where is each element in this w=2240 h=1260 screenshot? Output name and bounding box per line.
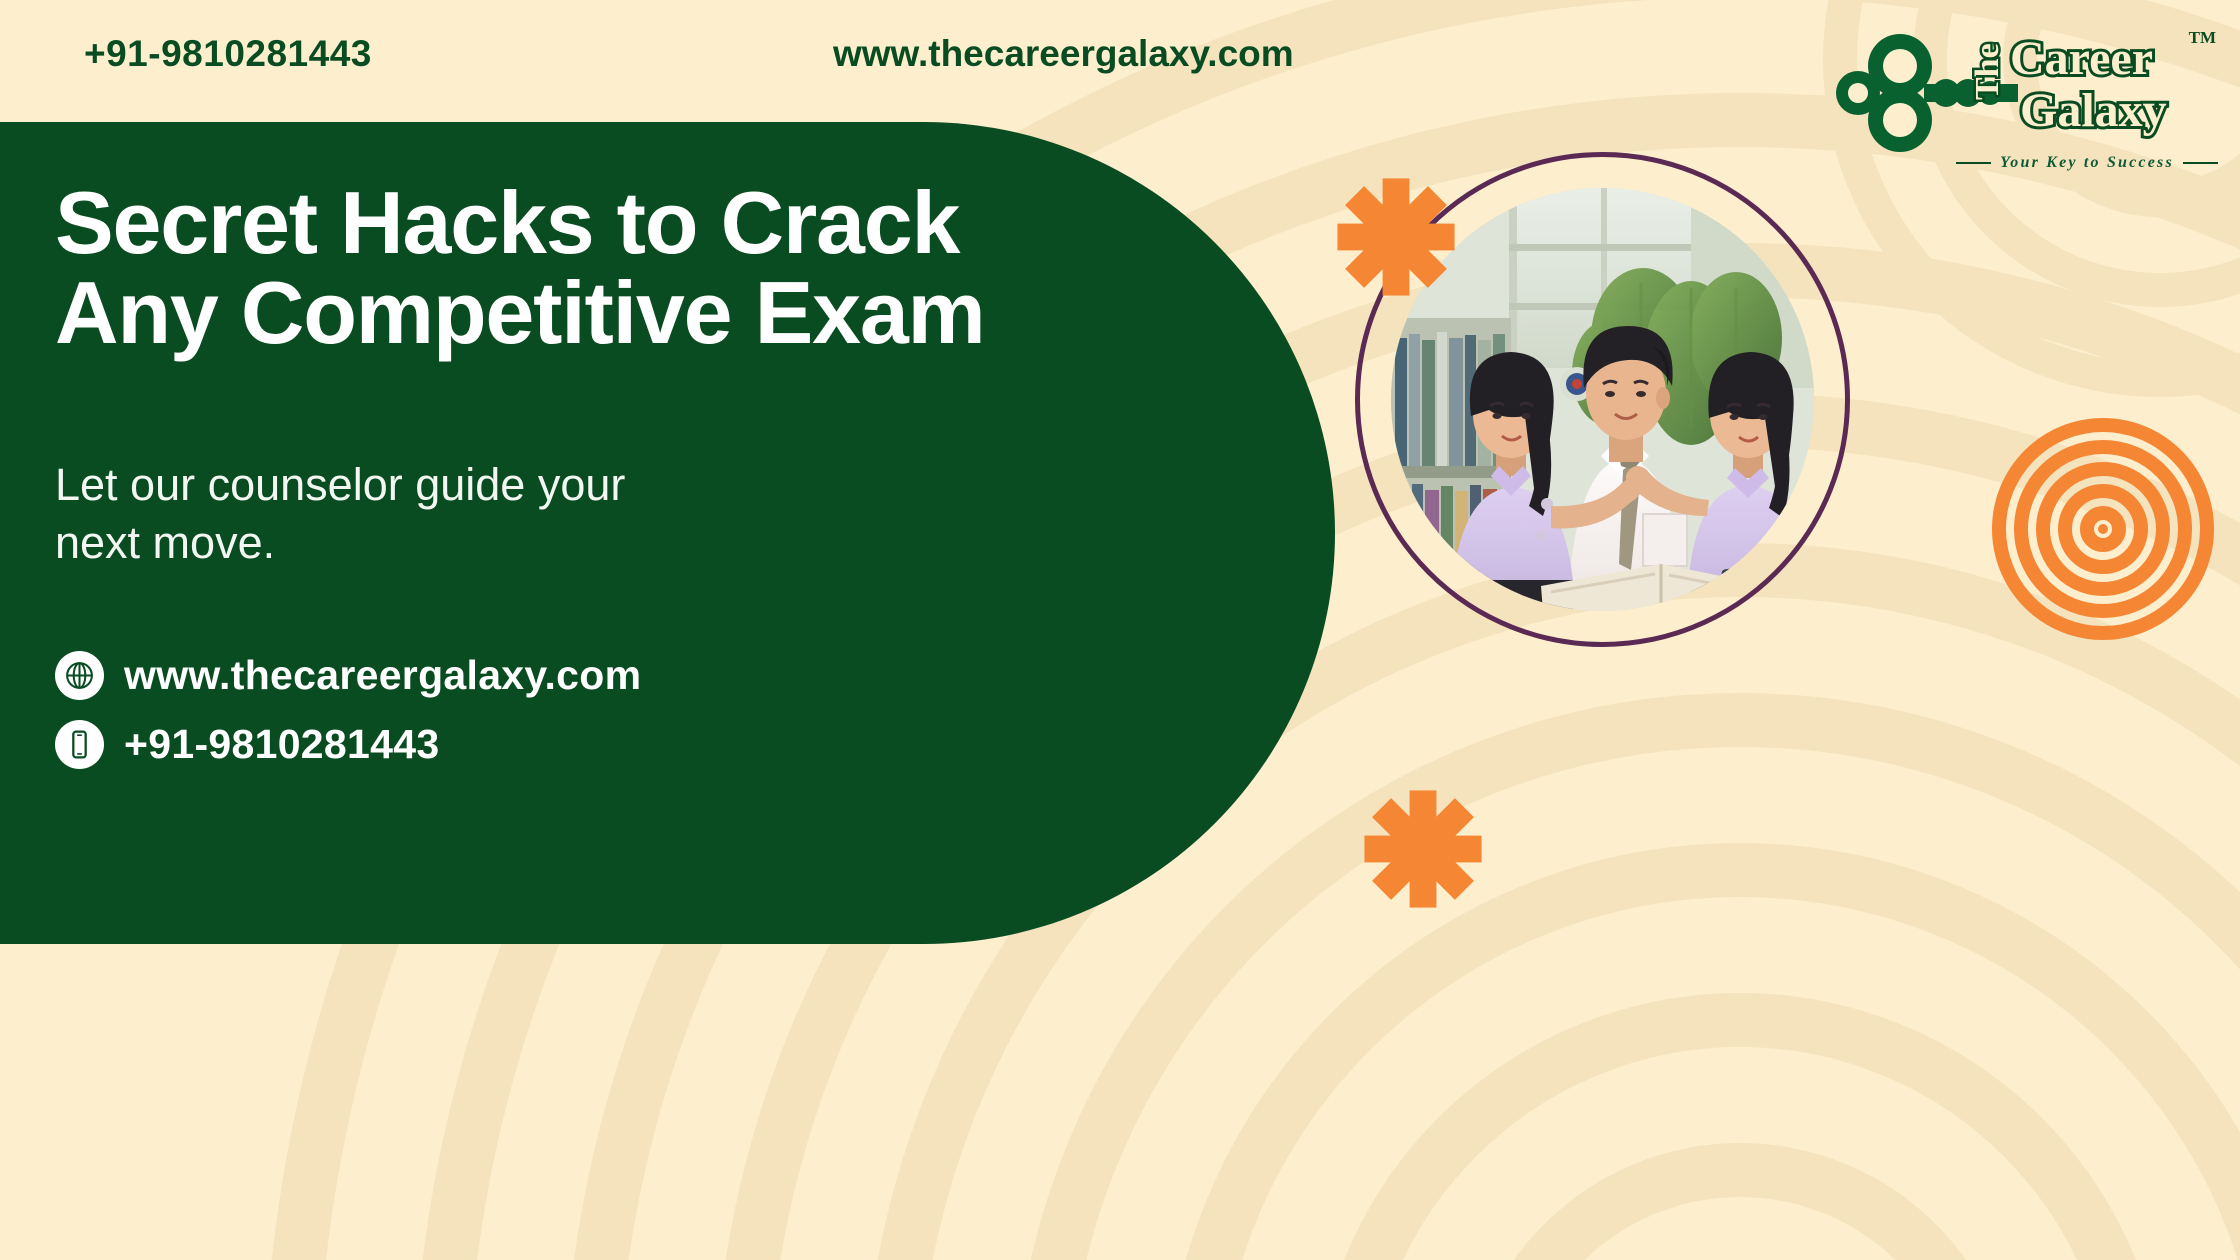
- headline-line-2: Any Competitive Exam: [55, 268, 1285, 358]
- tagline-rule-right: [2183, 162, 2218, 164]
- contact-website-label: www.thecareergalaxy.com: [124, 652, 641, 699]
- poster-canvas: +91-9810281443 www.thecareergalaxy.com T…: [0, 0, 2240, 1260]
- contact-list: www.thecareergalaxy.com +91-9810281443: [55, 651, 1295, 769]
- subcopy-line-2: next move.: [55, 514, 875, 573]
- contact-phone-label: +91-9810281443: [124, 721, 439, 768]
- logo-word-galaxy: Galaxy: [2020, 84, 2167, 137]
- contact-row-phone[interactable]: +91-9810281443: [55, 720, 1295, 769]
- orange-asterisk-top: [1335, 176, 1457, 298]
- page-title: Secret Hacks to Crack Any Competitive Ex…: [55, 178, 1285, 358]
- logo-wordmark: The Career Galaxy: [1968, 22, 2218, 142]
- mobile-phone-icon: [55, 720, 104, 769]
- tagline-text: Your Key to Success: [2000, 154, 2174, 172]
- brand-logo[interactable]: The Career Galaxy TM Your Key to Success: [1828, 10, 2218, 182]
- orange-asterisk-bottom: [1362, 788, 1484, 910]
- hero-subcopy: Let our counselor guide your next move.: [55, 456, 875, 574]
- logo-word-career: Career: [2010, 32, 2153, 85]
- logo-tagline: Your Key to Success: [1956, 154, 2218, 172]
- subcopy-line-1: Let our counselor guide your: [55, 456, 875, 515]
- topbar-phone[interactable]: +91-9810281443: [84, 33, 372, 75]
- contact-row-website[interactable]: www.thecareergalaxy.com: [55, 651, 1295, 700]
- orange-concentric-rings: [1992, 418, 2214, 640]
- tagline-rule-left: [1956, 162, 1991, 164]
- globe-icon: [55, 651, 104, 700]
- trademark-symbol: TM: [2189, 28, 2216, 48]
- hero-content: Secret Hacks to Crack Any Competitive Ex…: [55, 178, 1295, 789]
- topbar-website[interactable]: www.thecareergalaxy.com: [833, 33, 1294, 75]
- headline-line-1: Secret Hacks to Crack: [55, 173, 959, 272]
- logo-word-the: The: [1969, 43, 2006, 100]
